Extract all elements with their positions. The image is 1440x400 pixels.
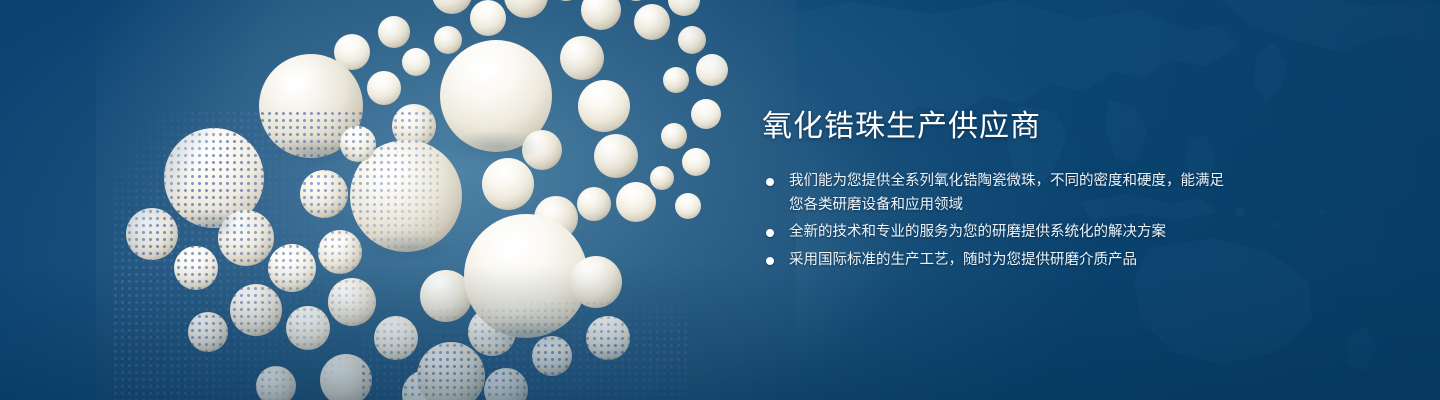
zirconia-beads-photo — [96, 0, 796, 400]
banner-feature-list: 我们能为您提供全系列氧化锆陶瓷微珠，不同的密度和硬度，能满足您各类研磨设备和应用… — [762, 170, 1232, 272]
bullet-dot-icon — [766, 257, 774, 265]
list-item: 全新的技术和专业的服务为您的研磨提供系统化的解决方案 — [762, 221, 1232, 245]
list-item-label: 采用国际标准的生产工艺，随时为您提供研磨介质产品 — [789, 249, 1232, 273]
bullet-dot-icon — [766, 178, 774, 186]
hero-banner: 氧化锆珠生产供应商 我们能为您提供全系列氧化锆陶瓷微珠，不同的密度和硬度，能满足… — [0, 0, 1440, 400]
banner-headline: 氧化锆珠生产供应商 — [762, 108, 1232, 146]
list-item-label: 我们能为您提供全系列氧化锆陶瓷微珠，不同的密度和硬度，能满足您各类研磨设备和应用… — [789, 170, 1232, 217]
list-item: 采用国际标准的生产工艺，随时为您提供研磨介质产品 — [762, 249, 1232, 273]
list-item-label: 全新的技术和专业的服务为您的研磨提供系统化的解决方案 — [789, 221, 1232, 245]
banner-content: 氧化锆珠生产供应商 我们能为您提供全系列氧化锆陶瓷微珠，不同的密度和硬度，能满足… — [762, 108, 1232, 272]
list-item: 我们能为您提供全系列氧化锆陶瓷微珠，不同的密度和硬度，能满足您各类研磨设备和应用… — [762, 170, 1232, 217]
bullet-dot-icon — [766, 229, 774, 237]
